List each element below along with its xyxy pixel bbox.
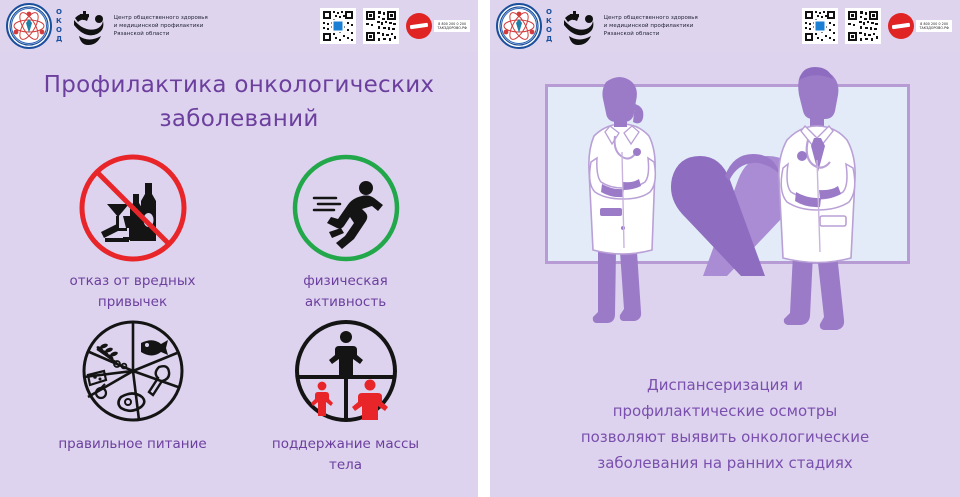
physical-activity-icon — [292, 154, 400, 262]
okod-letters: О К О Д — [56, 8, 63, 44]
healthy-nutrition-icon — [79, 317, 187, 425]
left-poster-panel: О К О Д Центр общественного здоро — [0, 0, 478, 497]
prevention-caption-no-bad-habits: отказ от вредных привычек — [69, 271, 195, 313]
right-poster-panel: О К О Д Центр общественного здоро — [490, 0, 960, 497]
message-line-3: позволяют выявить онкологические — [490, 424, 960, 450]
okod-letter-3: Д — [56, 35, 63, 44]
message-line-4: заболевания на ранних стадиях — [490, 450, 960, 476]
stop-smoking-badge-icon — [888, 13, 914, 39]
health-center-logo-icon — [559, 6, 599, 46]
okod-letter-2: О — [546, 26, 553, 35]
body-weight-icon — [292, 317, 400, 425]
qr-code-blue-center-icon[interactable] — [802, 8, 838, 44]
doctors-illustration — [490, 56, 960, 356]
health-center-name: Центр общественного здоровья и медицинск… — [114, 14, 208, 38]
hotline-number: 8 800 200 0 200 ТАКЗДОРОВО.РФ — [916, 20, 952, 33]
prevention-item-body-weight: поддержание массы тела — [239, 317, 452, 476]
caption-line-1: отказ от вредных — [69, 271, 195, 292]
prevention-item-healthy-nutrition: правильное питание — [26, 317, 239, 476]
stop-smoking-badge-icon — [406, 13, 432, 39]
caption-line-1: правильное питание — [58, 434, 206, 455]
page-title-line1: Профилактика онкологических — [0, 68, 478, 102]
okod-logo-icon — [6, 3, 52, 49]
okod-letters: О К О Д — [546, 8, 553, 44]
poster-container: О К О Д Центр общественного здоро — [0, 0, 960, 497]
caption-line-2: привычек — [69, 292, 195, 313]
prevention-caption-body-weight: поддержание массы тела — [272, 434, 419, 476]
okod-letter-0: О — [546, 8, 553, 17]
caption-line-1: физическая — [303, 271, 388, 292]
qr-code-plain-icon[interactable] — [363, 8, 399, 44]
qr-code-plain-icon[interactable] — [845, 8, 881, 44]
right-panel-header: О К О Д Центр общественного здоро — [490, 0, 960, 52]
message-line-1: Диспансеризация и — [490, 372, 960, 398]
header-branding: О К О Д Центр общественного здоро — [490, 3, 698, 49]
page-title-line2: заболеваний — [0, 102, 478, 136]
okod-letter-1: К — [56, 17, 63, 26]
panel-separator — [478, 0, 490, 497]
left-panel-header: О К О Д Центр общественного здоро — [0, 0, 478, 52]
okod-letter-2: О — [56, 26, 63, 35]
right-panel-message: Диспансеризация и профилактические осмот… — [490, 372, 960, 476]
no-bad-habits-icon — [79, 154, 187, 262]
prevention-caption-healthy-nutrition: правильное питание — [58, 434, 206, 455]
hotline-number: 8 800 200 0 200 ТАКЗДОРОВО.РФ — [434, 20, 470, 33]
header-codes: 8 800 200 0 200 ТАКЗДОРОВО.РФ — [802, 8, 960, 44]
okod-logo-icon — [496, 3, 542, 49]
caption-line-2: активность — [303, 292, 388, 313]
prevention-item-physical-activity: физическая активность — [239, 154, 452, 313]
prevention-caption-physical-activity: физическая активность — [303, 271, 388, 313]
hotline-badge: 8 800 200 0 200 ТАКЗДОРОВО.РФ — [888, 13, 952, 39]
page-title: Профилактика онкологических заболеваний — [0, 68, 478, 136]
header-branding: О К О Д Центр общественного здоро — [0, 3, 208, 49]
female-doctor-figure — [589, 77, 655, 323]
health-center-name: Центр общественного здоровья и медицинск… — [604, 14, 698, 38]
okod-letter-1: К — [546, 17, 553, 26]
prevention-icon-grid: отказ от вредных привычек — [0, 154, 478, 476]
health-center-logo-icon — [69, 6, 109, 46]
caption-line-2: тела — [272, 455, 419, 476]
prevention-item-no-bad-habits: отказ от вредных привычек — [26, 154, 239, 313]
qr-code-blue-center-icon[interactable] — [320, 8, 356, 44]
okod-letter-3: Д — [546, 35, 553, 44]
message-line-2: профилактические осмотры — [490, 398, 960, 424]
header-codes: 8 800 200 0 200 ТАКЗДОРОВО.РФ — [320, 8, 478, 44]
okod-letter-0: О — [56, 8, 63, 17]
hotline-badge: 8 800 200 0 200 ТАКЗДОРОВО.РФ — [406, 13, 470, 39]
male-doctor-figure — [779, 67, 855, 330]
caption-line-1: поддержание массы — [272, 434, 419, 455]
